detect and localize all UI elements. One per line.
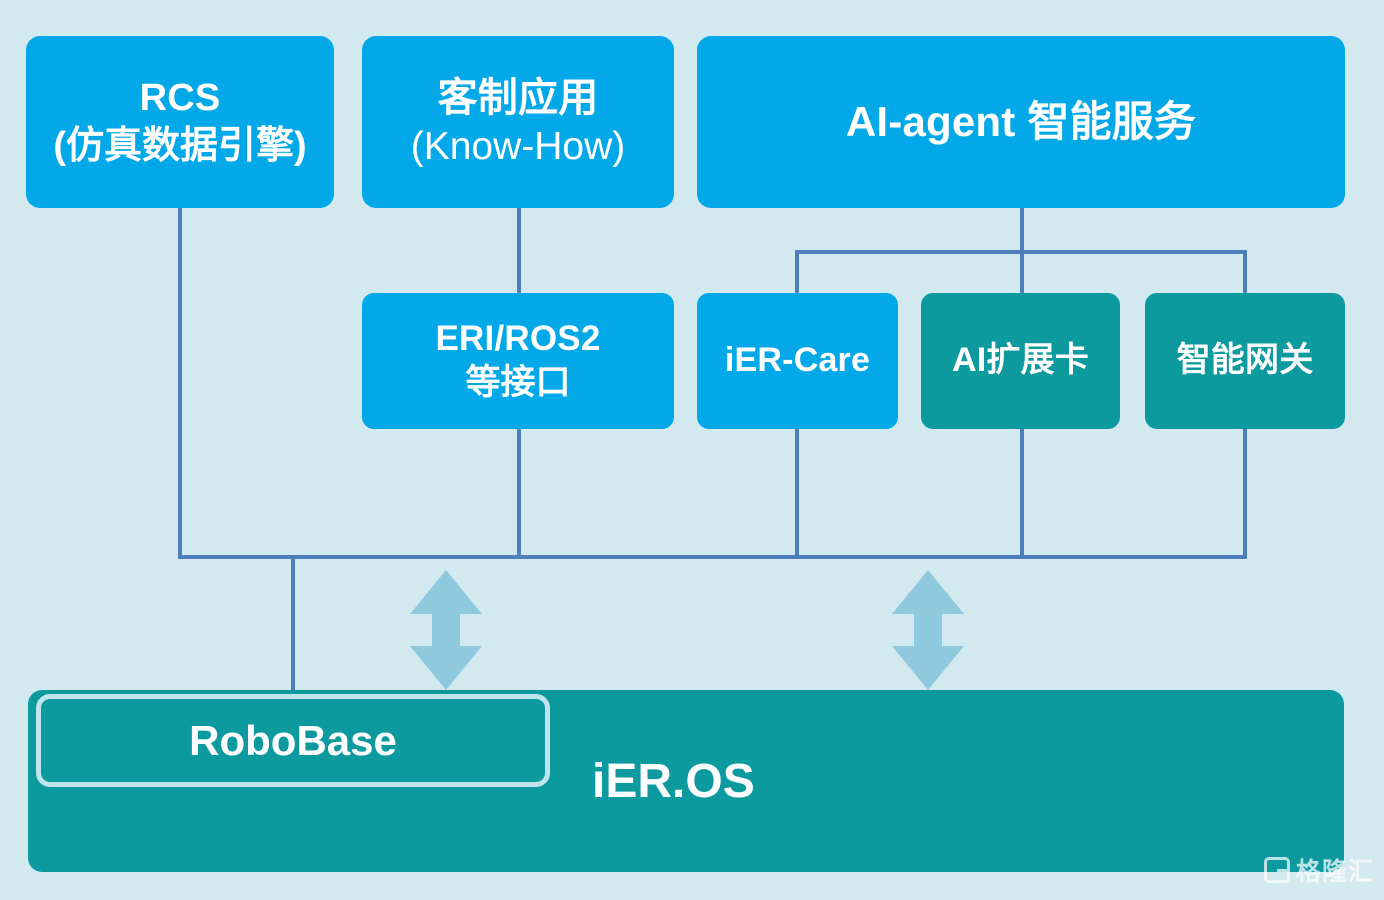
node-ai-agent[interactable]: AI-agent 智能服务 xyxy=(697,36,1345,208)
node-robobase[interactable]: RoboBase xyxy=(36,694,550,787)
architecture-diagram-canvas: RCS (仿真数据引擎) 客制应用 (Know-How) AI-agent 智能… xyxy=(0,0,1384,900)
node-custom-app-line1: 客制应用 xyxy=(438,75,599,121)
node-rcs-line2: (仿真数据引擎) xyxy=(53,124,306,168)
node-custom-app-line2: (Know-How) xyxy=(411,124,626,169)
node-robobase-label: RoboBase xyxy=(189,717,397,765)
node-ai-expansion-card-label: AI扩展卡 xyxy=(952,341,1089,380)
node-ai-expansion-card[interactable]: AI扩展卡 xyxy=(921,293,1120,429)
gelonghui-logo-icon xyxy=(1264,857,1290,883)
node-smart-gateway-label: 智能网关 xyxy=(1177,341,1314,380)
node-rcs[interactable]: RCS (仿真数据引擎) xyxy=(26,36,334,208)
connector-bus-to-os-drop xyxy=(291,555,295,695)
node-eri-ros2-line2: 等接口 xyxy=(465,363,570,404)
connector-main-bus xyxy=(178,555,1247,559)
connector-aiagent-stem xyxy=(1020,208,1024,254)
bidirectional-arrow-left xyxy=(410,570,482,690)
connector-rcs-stem xyxy=(178,208,182,559)
node-ai-agent-label: AI-agent 智能服务 xyxy=(846,98,1196,147)
node-rcs-line1: RCS xyxy=(140,76,221,120)
node-smart-gateway[interactable]: 智能网关 xyxy=(1145,293,1345,429)
watermark: 格隆汇 xyxy=(1264,852,1374,888)
node-ier-care[interactable]: iER-Care xyxy=(697,293,898,429)
node-ier-os-label: iER.OS xyxy=(592,754,755,809)
node-eri-ros2-line1: ERI/ROS2 xyxy=(436,319,601,360)
bidirectional-arrow-right xyxy=(892,570,964,690)
node-custom-app[interactable]: 客制应用 (Know-How) xyxy=(362,36,674,208)
node-eri-ros2[interactable]: ERI/ROS2 等接口 xyxy=(362,293,674,429)
watermark-text: 格隆汇 xyxy=(1296,852,1374,888)
node-ier-care-label: iER-Care xyxy=(725,341,870,380)
